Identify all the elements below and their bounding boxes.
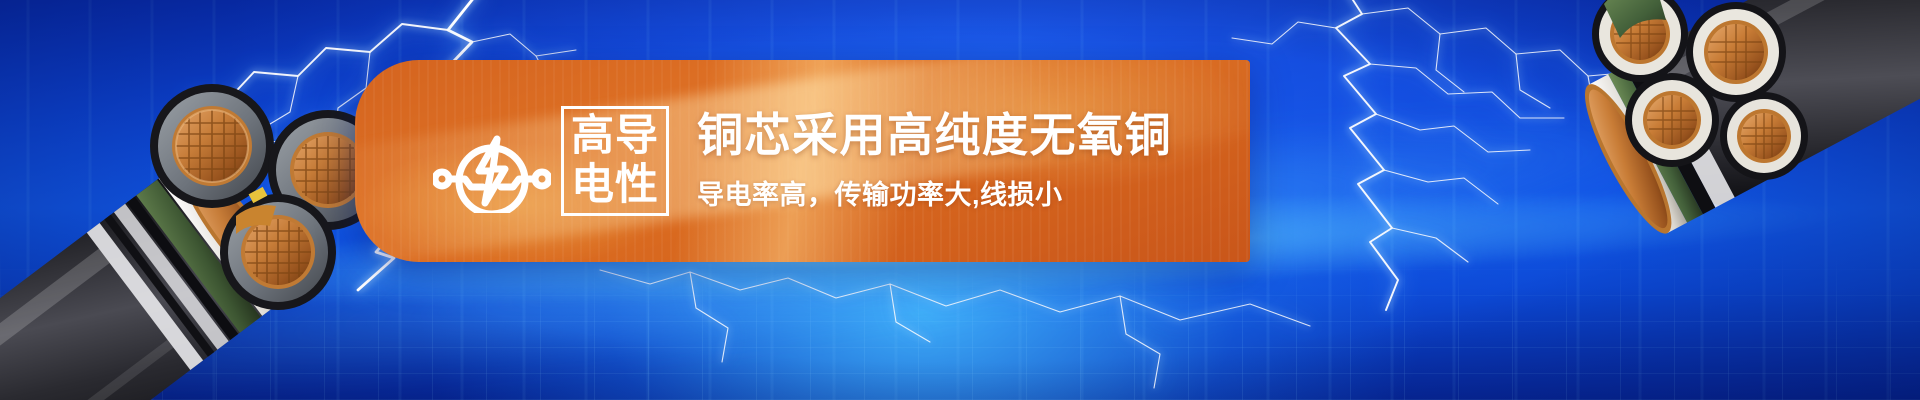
electric-circuit-bolt-icon [433, 107, 551, 215]
feature-panel-content: 高导 电性 铜芯采用高纯度无氧铜 导电率高，传输功率大,线损小 [355, 60, 1250, 262]
feature-badge: 高导 电性 [561, 106, 669, 216]
badge-line-1: 高导 [571, 115, 659, 158]
product-feature-banner: 高导 电性 铜芯采用高纯度无氧铜 导电率高，传输功率大,线损小 [0, 0, 1920, 400]
feature-copy: 铜芯采用高纯度无氧铜 导电率高，传输功率大,线损小 [697, 110, 1250, 213]
feature-subline: 导电率高，传输功率大,线损小 [697, 173, 1250, 212]
badge-line-2: 电性 [571, 164, 659, 207]
feature-headline: 铜芯采用高纯度无氧铜 [697, 110, 1250, 162]
feature-panel: 高导 电性 铜芯采用高纯度无氧铜 导电率高，传输功率大,线损小 [355, 60, 1250, 262]
